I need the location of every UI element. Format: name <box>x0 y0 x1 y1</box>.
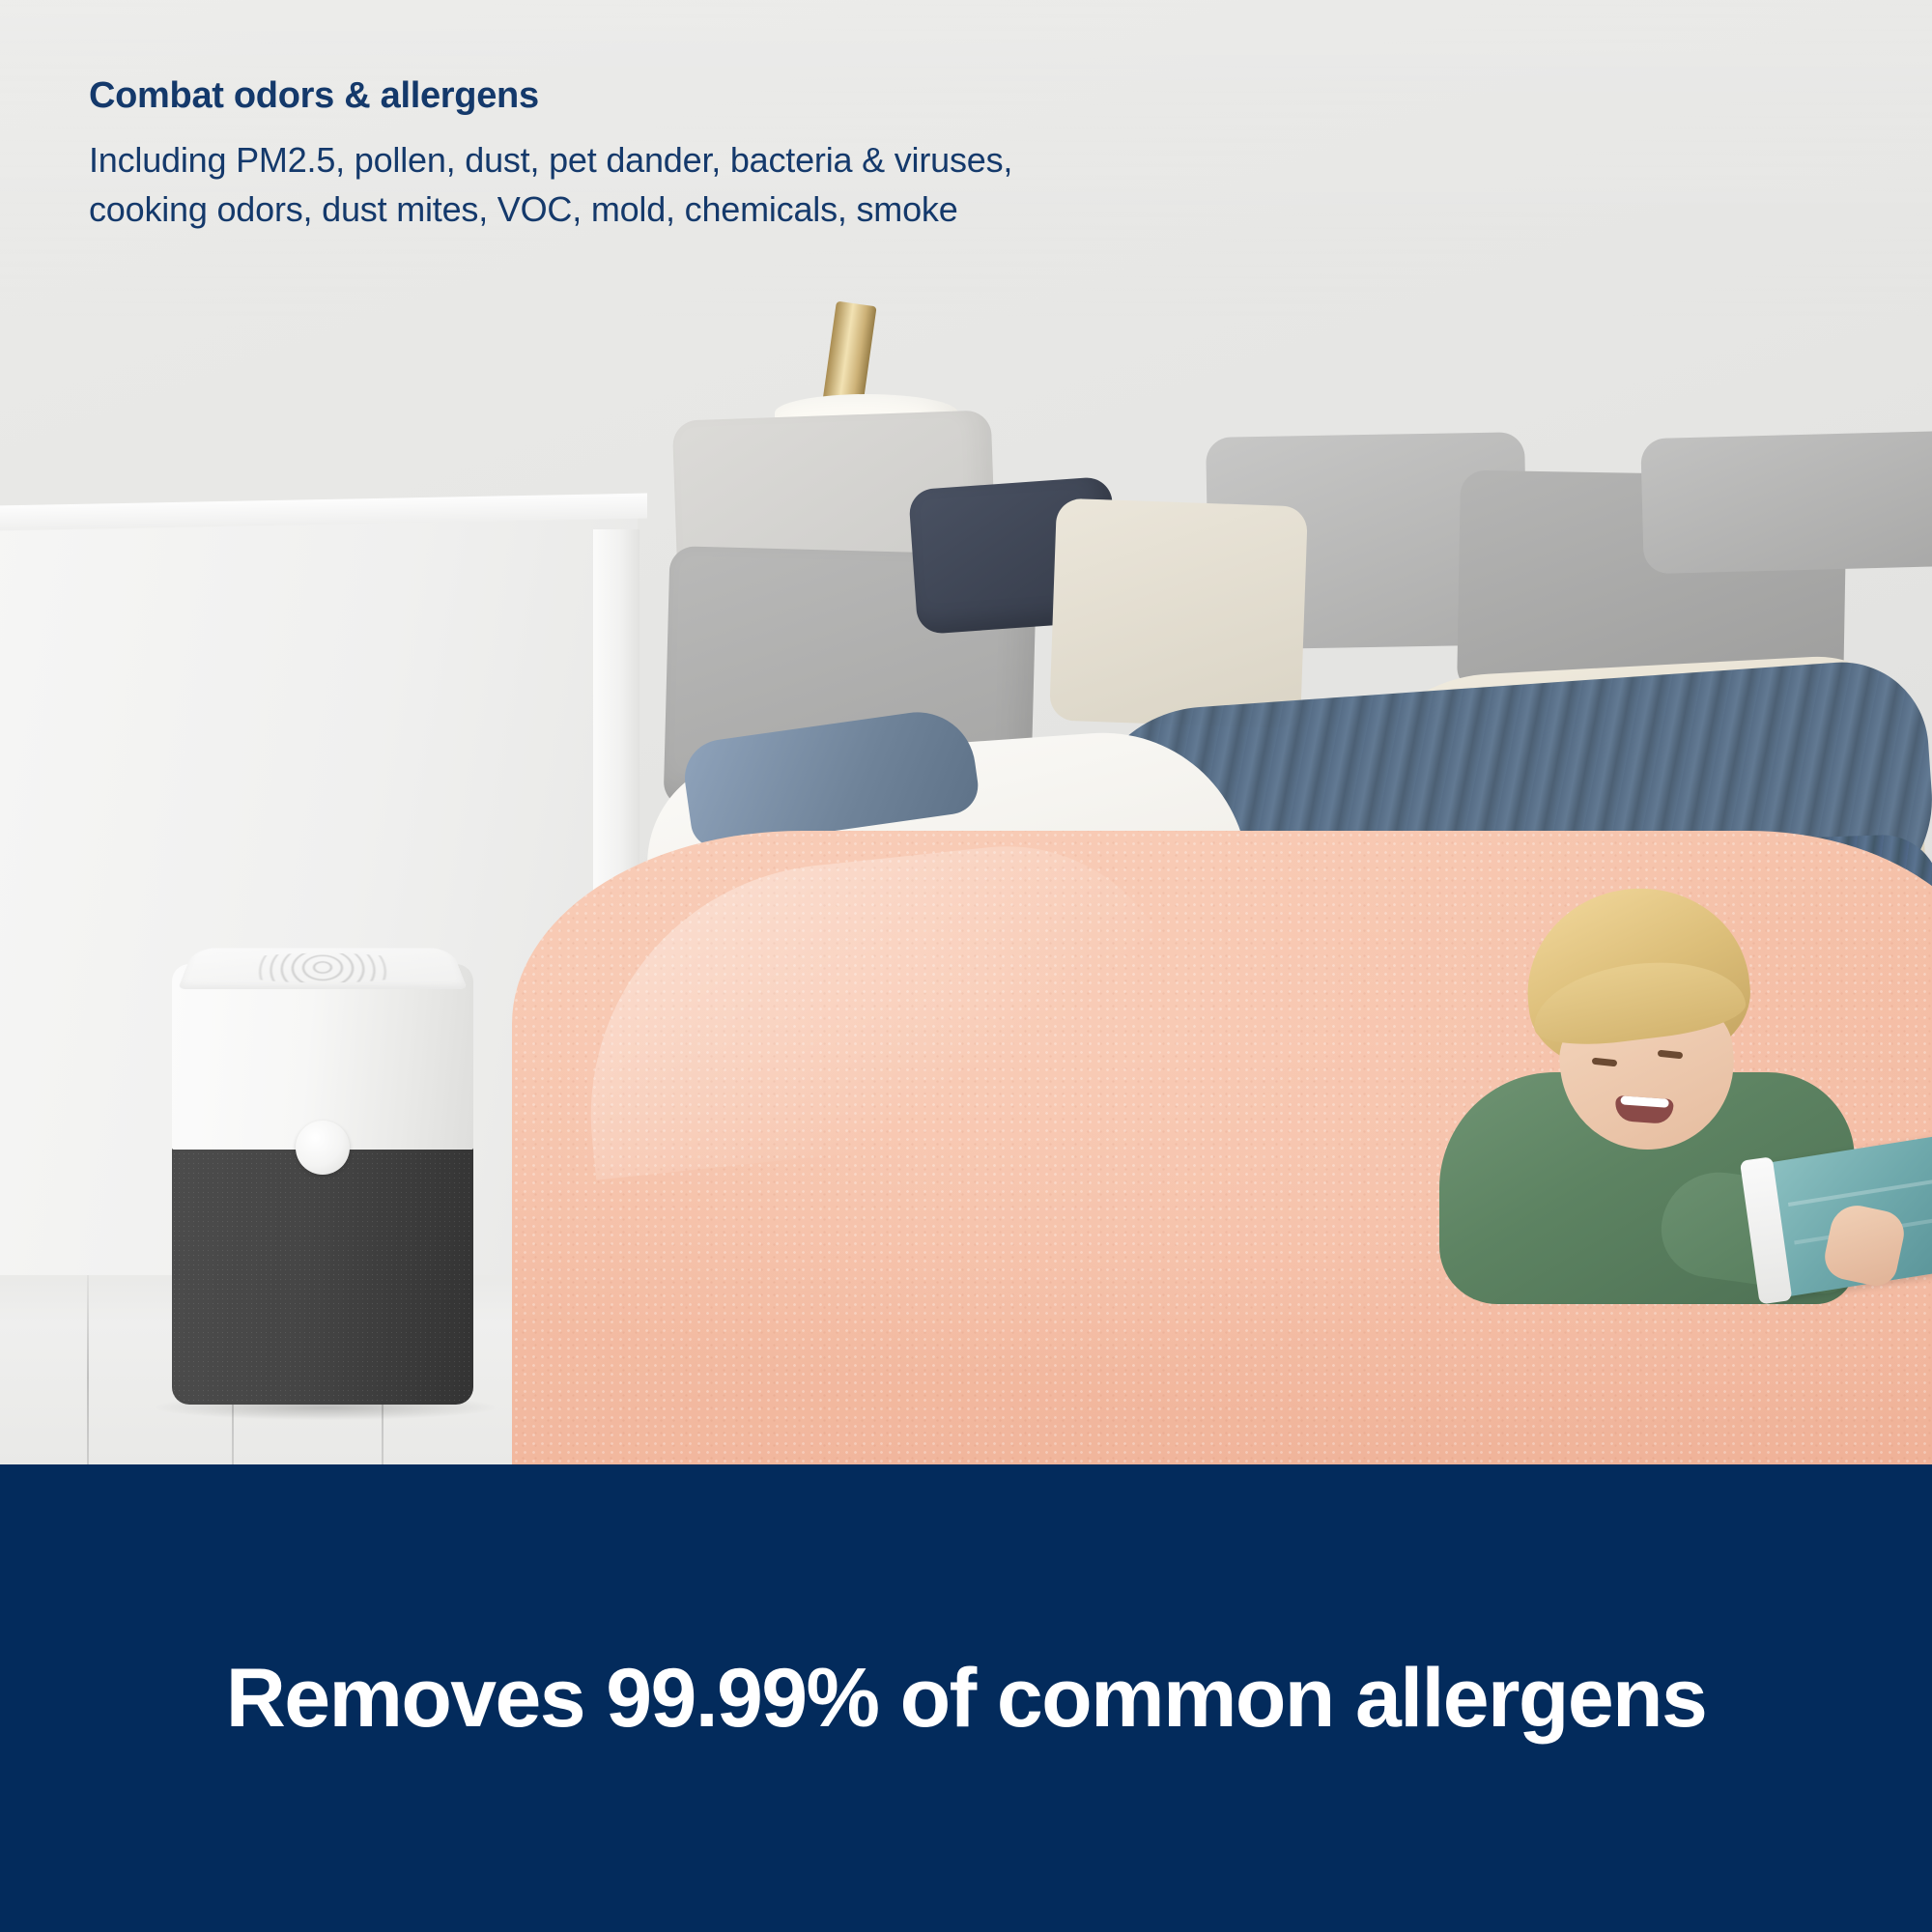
pillow <box>1049 498 1308 729</box>
overlay-body: Including PM2.5, pollen, dust, pet dande… <box>89 135 1296 234</box>
air-purifier <box>172 920 481 1408</box>
overlay-body-line-2: cooking odors, dust mites, VOC, mold, ch… <box>89 185 1296 234</box>
banner-headline: Removes 99.99% of common allergens <box>226 1651 1706 1747</box>
purifier-prefilter <box>172 1142 473 1405</box>
overlay-title: Combat odors & allergens <box>89 75 1296 118</box>
boy <box>1468 889 1932 1304</box>
overlay-copy: Combat odors & allergens Including PM2.5… <box>89 75 1296 234</box>
product-marketing-poster: Combat odors & allergens Including PM2.5… <box>0 0 1932 1932</box>
pillow <box>1640 431 1932 575</box>
overlay-body-line-1: Including PM2.5, pollen, dust, pet dande… <box>89 135 1296 185</box>
purifier-top-grille <box>178 948 468 989</box>
grille-pattern <box>213 953 432 983</box>
bottom-banner: Removes 99.99% of common allergens <box>0 1464 1932 1932</box>
bed <box>667 377 1932 1464</box>
purifier-control-knob[interactable] <box>296 1121 350 1175</box>
